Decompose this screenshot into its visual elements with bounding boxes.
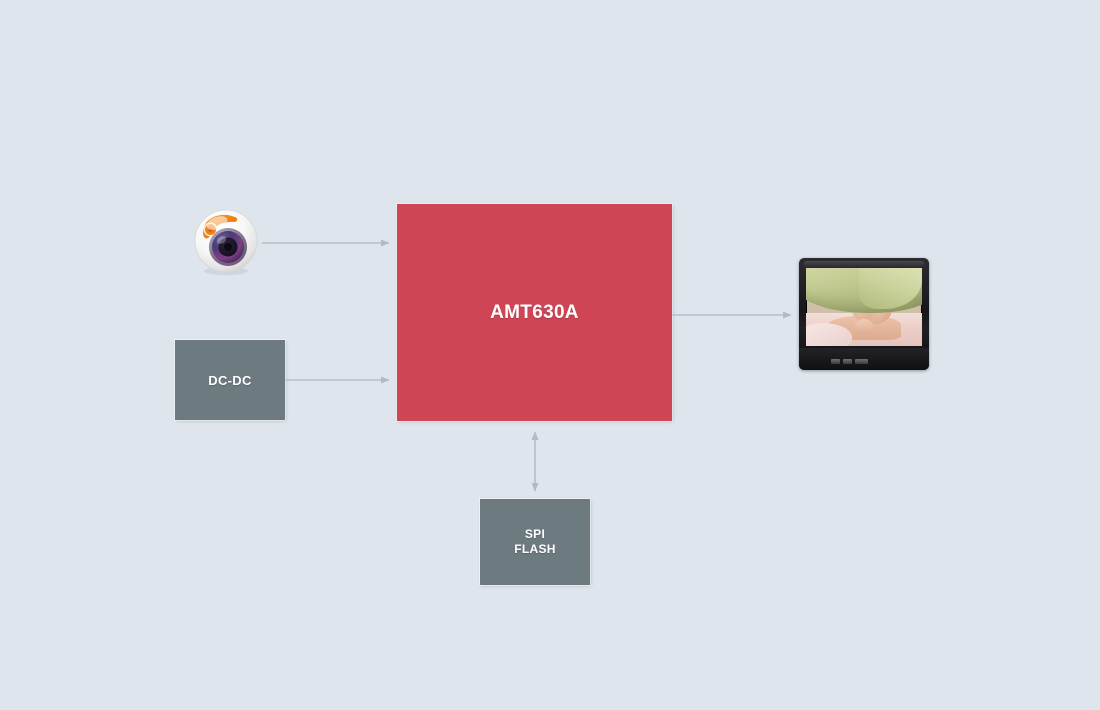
block-spi-flash[interactable]: SPI FLASH xyxy=(480,499,590,585)
block-amt630a-label: AMT630A xyxy=(490,302,579,324)
monitor-top-bezel xyxy=(804,261,924,268)
block-dc-dc[interactable]: DC-DC xyxy=(175,340,285,420)
diagram-canvas: AMT630A DC-DC SPI FLASH xyxy=(0,0,1100,710)
monitor-button-2[interactable] xyxy=(843,359,852,364)
camera-icon xyxy=(190,205,262,277)
lcd-monitor-icon xyxy=(799,258,929,370)
monitor-button-1[interactable] xyxy=(831,359,840,364)
monitor-button-row[interactable] xyxy=(831,359,868,364)
block-dc-dc-label: DC-DC xyxy=(208,373,251,388)
block-spi-flash-label-line2: FLASH xyxy=(514,542,556,557)
monitor-button-3[interactable] xyxy=(855,359,868,364)
baby-photo xyxy=(806,268,922,346)
monitor-screen xyxy=(806,268,922,346)
monitor-bottom-bezel xyxy=(799,348,929,370)
block-spi-flash-label-line1: SPI xyxy=(525,527,545,542)
block-amt630a[interactable]: AMT630A xyxy=(397,204,672,421)
